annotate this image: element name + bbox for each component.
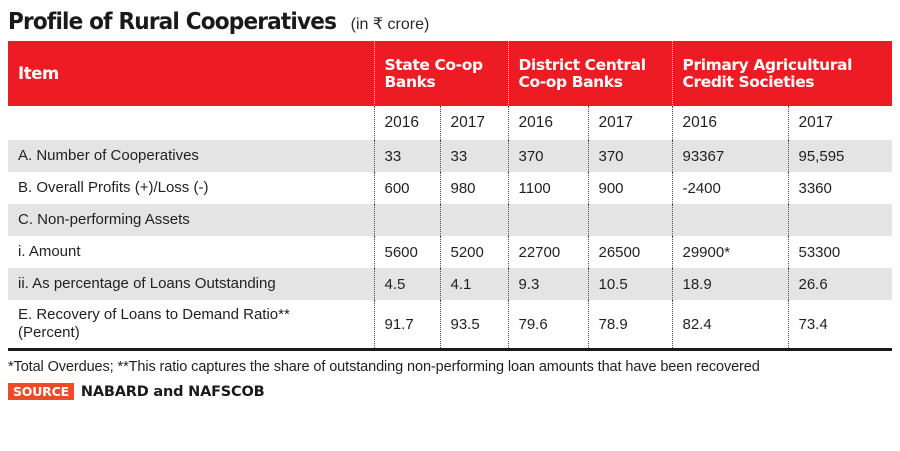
table-row: ii. As percentage of Loans Outstanding 4…	[8, 268, 892, 300]
column-header-primary-agricultural-credit-societies: Primary Agricultural Credit Societies	[672, 41, 892, 106]
table-row: B. Overall Profits (+)/Loss (-) 600 980 …	[8, 172, 892, 204]
row-label: B. Overall Profits (+)/Loss (-)	[8, 172, 374, 204]
title-bar: Profile of Rural Cooperatives(in ₹ crore…	[8, 0, 892, 41]
row-value	[508, 204, 588, 236]
row-value: 73.4	[788, 300, 892, 348]
row-label: E. Recovery of Loans to Demand Ratio** (…	[8, 300, 374, 348]
row-value	[588, 204, 672, 236]
source-line: SOURCE NABARD and NAFSCOB	[8, 377, 892, 400]
rural-cooperatives-table: Item State Co-op Banks District Central …	[8, 41, 892, 348]
footnote-text: *Total Overdues; **This ratio captures t…	[8, 351, 892, 377]
row-value: 95,595	[788, 140, 892, 172]
row-value	[788, 204, 892, 236]
row-value: 33	[374, 140, 440, 172]
row-value	[374, 204, 440, 236]
row-value: 53300	[788, 236, 892, 268]
column-header-state-coop-banks: State Co-op Banks	[374, 41, 508, 106]
row-value: 33	[440, 140, 508, 172]
source-badge: SOURCE	[8, 383, 74, 400]
row-value: 10.5	[588, 268, 672, 300]
year-header-pacs-2016: 2016	[672, 106, 788, 140]
row-value: 4.5	[374, 268, 440, 300]
row-value: 5200	[440, 236, 508, 268]
column-header-item: Item	[8, 41, 374, 106]
row-value: 900	[588, 172, 672, 204]
year-row-spacer	[8, 106, 374, 140]
row-value: 3360	[788, 172, 892, 204]
column-header-district-central-coop-banks: District Central Co-op Banks	[508, 41, 672, 106]
row-value: 78.9	[588, 300, 672, 348]
row-value: 5600	[374, 236, 440, 268]
row-value: 18.9	[672, 268, 788, 300]
row-value: 29900*	[672, 236, 788, 268]
row-value: 26500	[588, 236, 672, 268]
row-value: 4.1	[440, 268, 508, 300]
year-header-dccb-2016: 2016	[508, 106, 588, 140]
row-value: 79.6	[508, 300, 588, 348]
table-row: i. Amount 5600 5200 22700 26500 29900* 5…	[8, 236, 892, 268]
row-value: 26.6	[788, 268, 892, 300]
row-value: 22700	[508, 236, 588, 268]
row-value: 9.3	[508, 268, 588, 300]
table-row: A. Number of Cooperatives 33 33 370 370 …	[8, 140, 892, 172]
row-value: 91.7	[374, 300, 440, 348]
year-header-pacs-2017: 2017	[788, 106, 892, 140]
page-title: Profile of Rural Cooperatives	[8, 7, 336, 35]
row-value: 93367	[672, 140, 788, 172]
year-header-dccb-2017: 2017	[588, 106, 672, 140]
table-header-groups: Item State Co-op Banks District Central …	[8, 41, 892, 106]
row-value: 93.5	[440, 300, 508, 348]
row-label: A. Number of Cooperatives	[8, 140, 374, 172]
table-header-years: 2016 2017 2016 2017 2016 2017	[8, 106, 892, 140]
year-header-scb-2017: 2017	[440, 106, 508, 140]
row-label: ii. As percentage of Loans Outstanding	[8, 268, 374, 300]
row-value: 370	[508, 140, 588, 172]
row-value: 600	[374, 172, 440, 204]
row-value: 980	[440, 172, 508, 204]
row-label: i. Amount	[8, 236, 374, 268]
row-value: 370	[588, 140, 672, 172]
row-value: 1100	[508, 172, 588, 204]
row-value	[440, 204, 508, 236]
row-value: 82.4	[672, 300, 788, 348]
row-value	[672, 204, 788, 236]
table-row: E. Recovery of Loans to Demand Ratio** (…	[8, 300, 892, 348]
infographic-table-page: Profile of Rural Cooperatives(in ₹ crore…	[0, 0, 900, 451]
row-value: -2400	[672, 172, 788, 204]
year-header-scb-2016: 2016	[374, 106, 440, 140]
page-subtitle: (in ₹ crore)	[351, 14, 430, 34]
source-attribution: NABARD and NAFSCOB	[81, 384, 265, 400]
row-label: C. Non-performing Assets	[8, 204, 374, 236]
table-row: C. Non-performing Assets	[8, 204, 892, 236]
